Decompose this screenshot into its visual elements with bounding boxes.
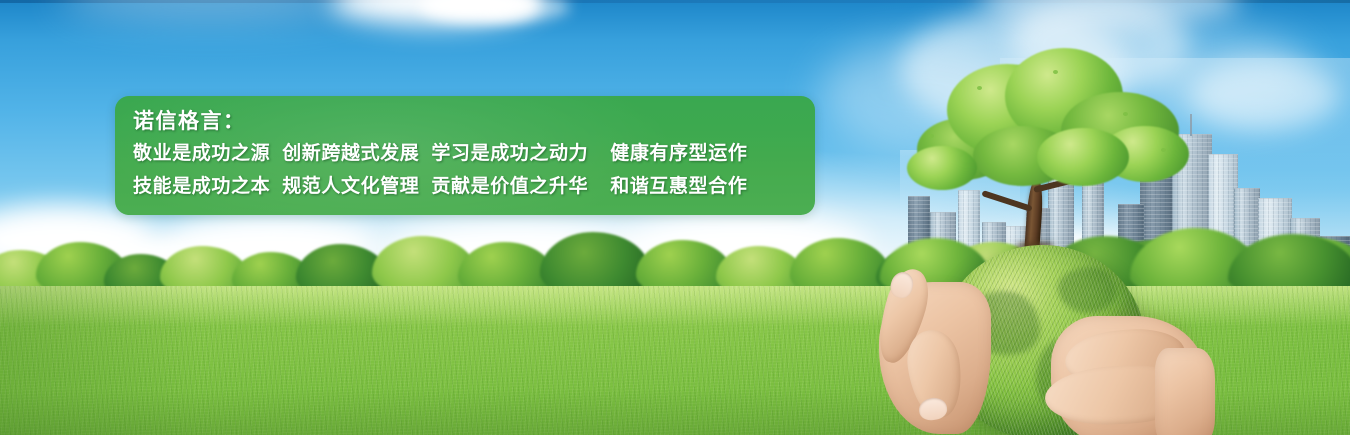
hero-banner: 诺信格言： 敬业是成功之源创新跨越式发展学习是成功之动力健康有序型运作 技能是成… — [0, 0, 1350, 435]
tree-canopy — [907, 146, 977, 190]
leaf-speck — [1123, 112, 1128, 116]
motto-panel: 诺信格言： 敬业是成功之源创新跨越式发展学习是成功之动力健康有序型运作 技能是成… — [115, 96, 815, 215]
motto-phrase: 技能是成功之本 — [133, 176, 270, 197]
tower-antenna — [1190, 114, 1192, 136]
motto-title: 诺信格言： — [133, 107, 815, 137]
motto-phrase: 和谐互惠型合作 — [610, 176, 747, 197]
tree-branch — [981, 190, 1032, 212]
motto-phrase: 规范人文化管理 — [282, 176, 419, 197]
leaf-speck — [1161, 148, 1166, 152]
motto-phrase: 创新跨越式发展 — [282, 143, 419, 164]
motto-phrase: 健康有序型运作 — [610, 143, 747, 164]
leaf-speck — [1053, 70, 1058, 74]
cloud-icon — [60, 0, 360, 20]
motto-phrase: 敬业是成功之源 — [133, 143, 270, 164]
motto-line-2: 技能是成功之本规范人文化管理贡献是价值之升华和谐互惠型合作 — [133, 170, 815, 203]
right-wrist — [1155, 348, 1215, 435]
tree-canopy — [1037, 128, 1129, 186]
motto-phrase: 贡献是价值之升华 — [431, 176, 588, 197]
eco-globe-composition — [855, 30, 1185, 435]
leaf-speck — [977, 86, 982, 90]
motto-phrase: 学习是成功之动力 — [431, 143, 588, 164]
leaf-speck — [929, 134, 934, 138]
motto-line-1: 敬业是成功之源创新跨越式发展学习是成功之动力健康有序型运作 — [133, 137, 815, 170]
